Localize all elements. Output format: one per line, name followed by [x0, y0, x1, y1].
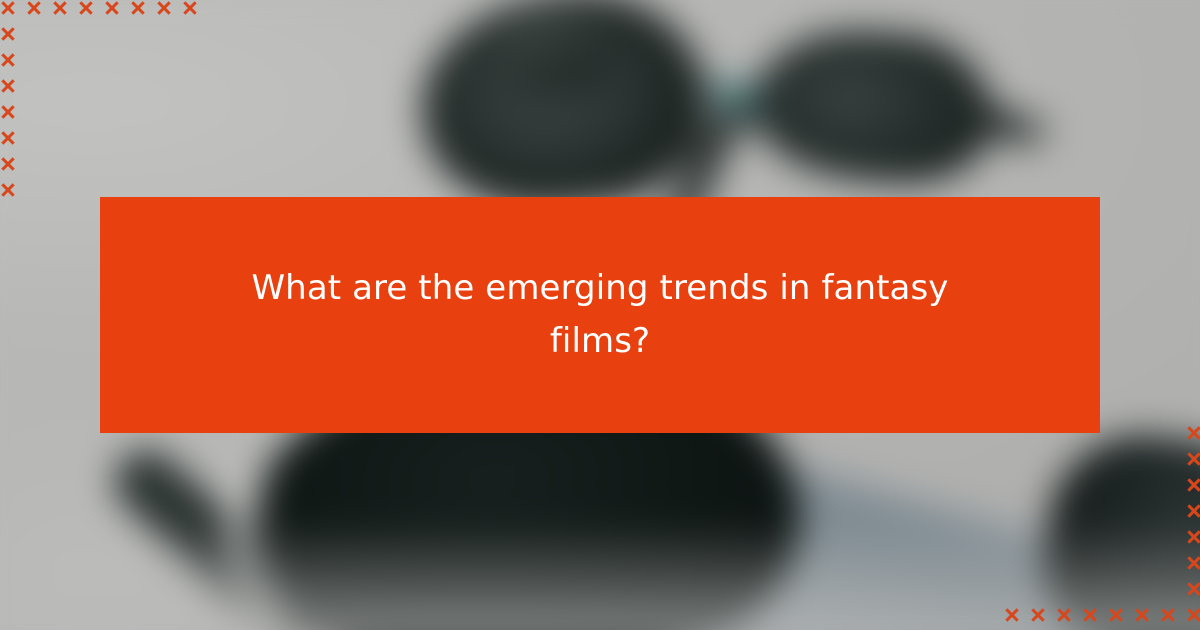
x-cross-icon: [1129, 602, 1155, 628]
page-title: What are the emerging trends in fantasy …: [250, 262, 950, 367]
x-cross-icon: [151, 0, 177, 21]
x-cross-icon: [47, 0, 73, 21]
x-cross-icon: [1103, 602, 1129, 628]
x-cross-icon: [21, 0, 47, 21]
x-cross-icon: [177, 0, 203, 21]
x-pattern-top: [0, 0, 203, 21]
x-cross-icon: [125, 0, 151, 21]
x-cross-icon: [1025, 602, 1051, 628]
x-cross-icon: [999, 602, 1025, 628]
x-cross-icon: [1181, 602, 1200, 628]
x-cross-icon: [1155, 602, 1181, 628]
x-pattern-bottom: [999, 602, 1200, 628]
x-pattern-left: [0, 21, 21, 203]
x-cross-icon: [0, 99, 21, 125]
x-cross-icon: [99, 0, 125, 21]
x-cross-icon: [0, 151, 21, 177]
x-cross-icon: [0, 177, 21, 203]
x-cross-icon: [0, 73, 21, 99]
x-cross-icon: [0, 125, 21, 151]
x-cross-icon: [0, 21, 21, 47]
social-card-canvas: What are the emerging trends in fantasy …: [0, 0, 1200, 630]
x-cross-icon: [1181, 524, 1200, 550]
x-cross-icon: [1181, 550, 1200, 576]
headline-banner: What are the emerging trends in fantasy …: [100, 197, 1100, 433]
x-cross-icon: [1181, 446, 1200, 472]
x-cross-icon: [0, 47, 21, 73]
x-pattern-right: [1181, 420, 1200, 602]
x-cross-icon: [1051, 602, 1077, 628]
x-cross-icon: [0, 0, 21, 21]
x-cross-icon: [73, 0, 99, 21]
x-cross-icon: [1181, 420, 1200, 446]
x-cross-icon: [1077, 602, 1103, 628]
x-cross-icon: [1181, 498, 1200, 524]
x-cross-icon: [1181, 472, 1200, 498]
x-cross-icon: [1181, 576, 1200, 602]
